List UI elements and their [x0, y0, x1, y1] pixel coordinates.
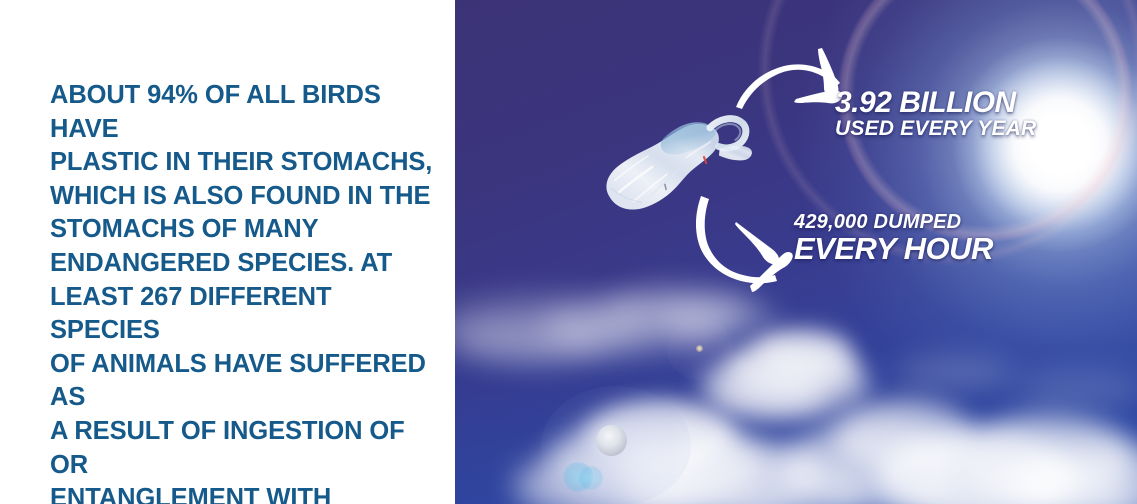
- headline-text: ABOUT 94% OF ALL BIRDS HAVE PLASTIC IN T…: [50, 79, 445, 504]
- infographic-poster: ABOUT 94% OF ALL BIRDS HAVE PLASTIC IN T…: [0, 0, 1137, 504]
- photo-panel: 3.92 BILLION USED EVERY YEAR 429,000 DUM…: [455, 0, 1137, 504]
- arrow-down-right-icon: [696, 196, 793, 292]
- callout-1-value: 3.92 BILLION: [835, 88, 1036, 118]
- callout-2-value: 429,000 DUMPED: [794, 212, 993, 233]
- callout-used-every-year: 3.92 BILLION USED EVERY YEAR: [835, 88, 1036, 140]
- callout-2-label: EVERY HOUR: [794, 233, 993, 264]
- callout-1-label: USED EVERY YEAR: [835, 118, 1036, 140]
- text-panel: ABOUT 94% OF ALL BIRDS HAVE PLASTIC IN T…: [0, 0, 455, 504]
- arrow-up-right-icon: [736, 48, 842, 109]
- callout-dumped-every-hour: 429,000 DUMPED EVERY HOUR: [794, 212, 993, 264]
